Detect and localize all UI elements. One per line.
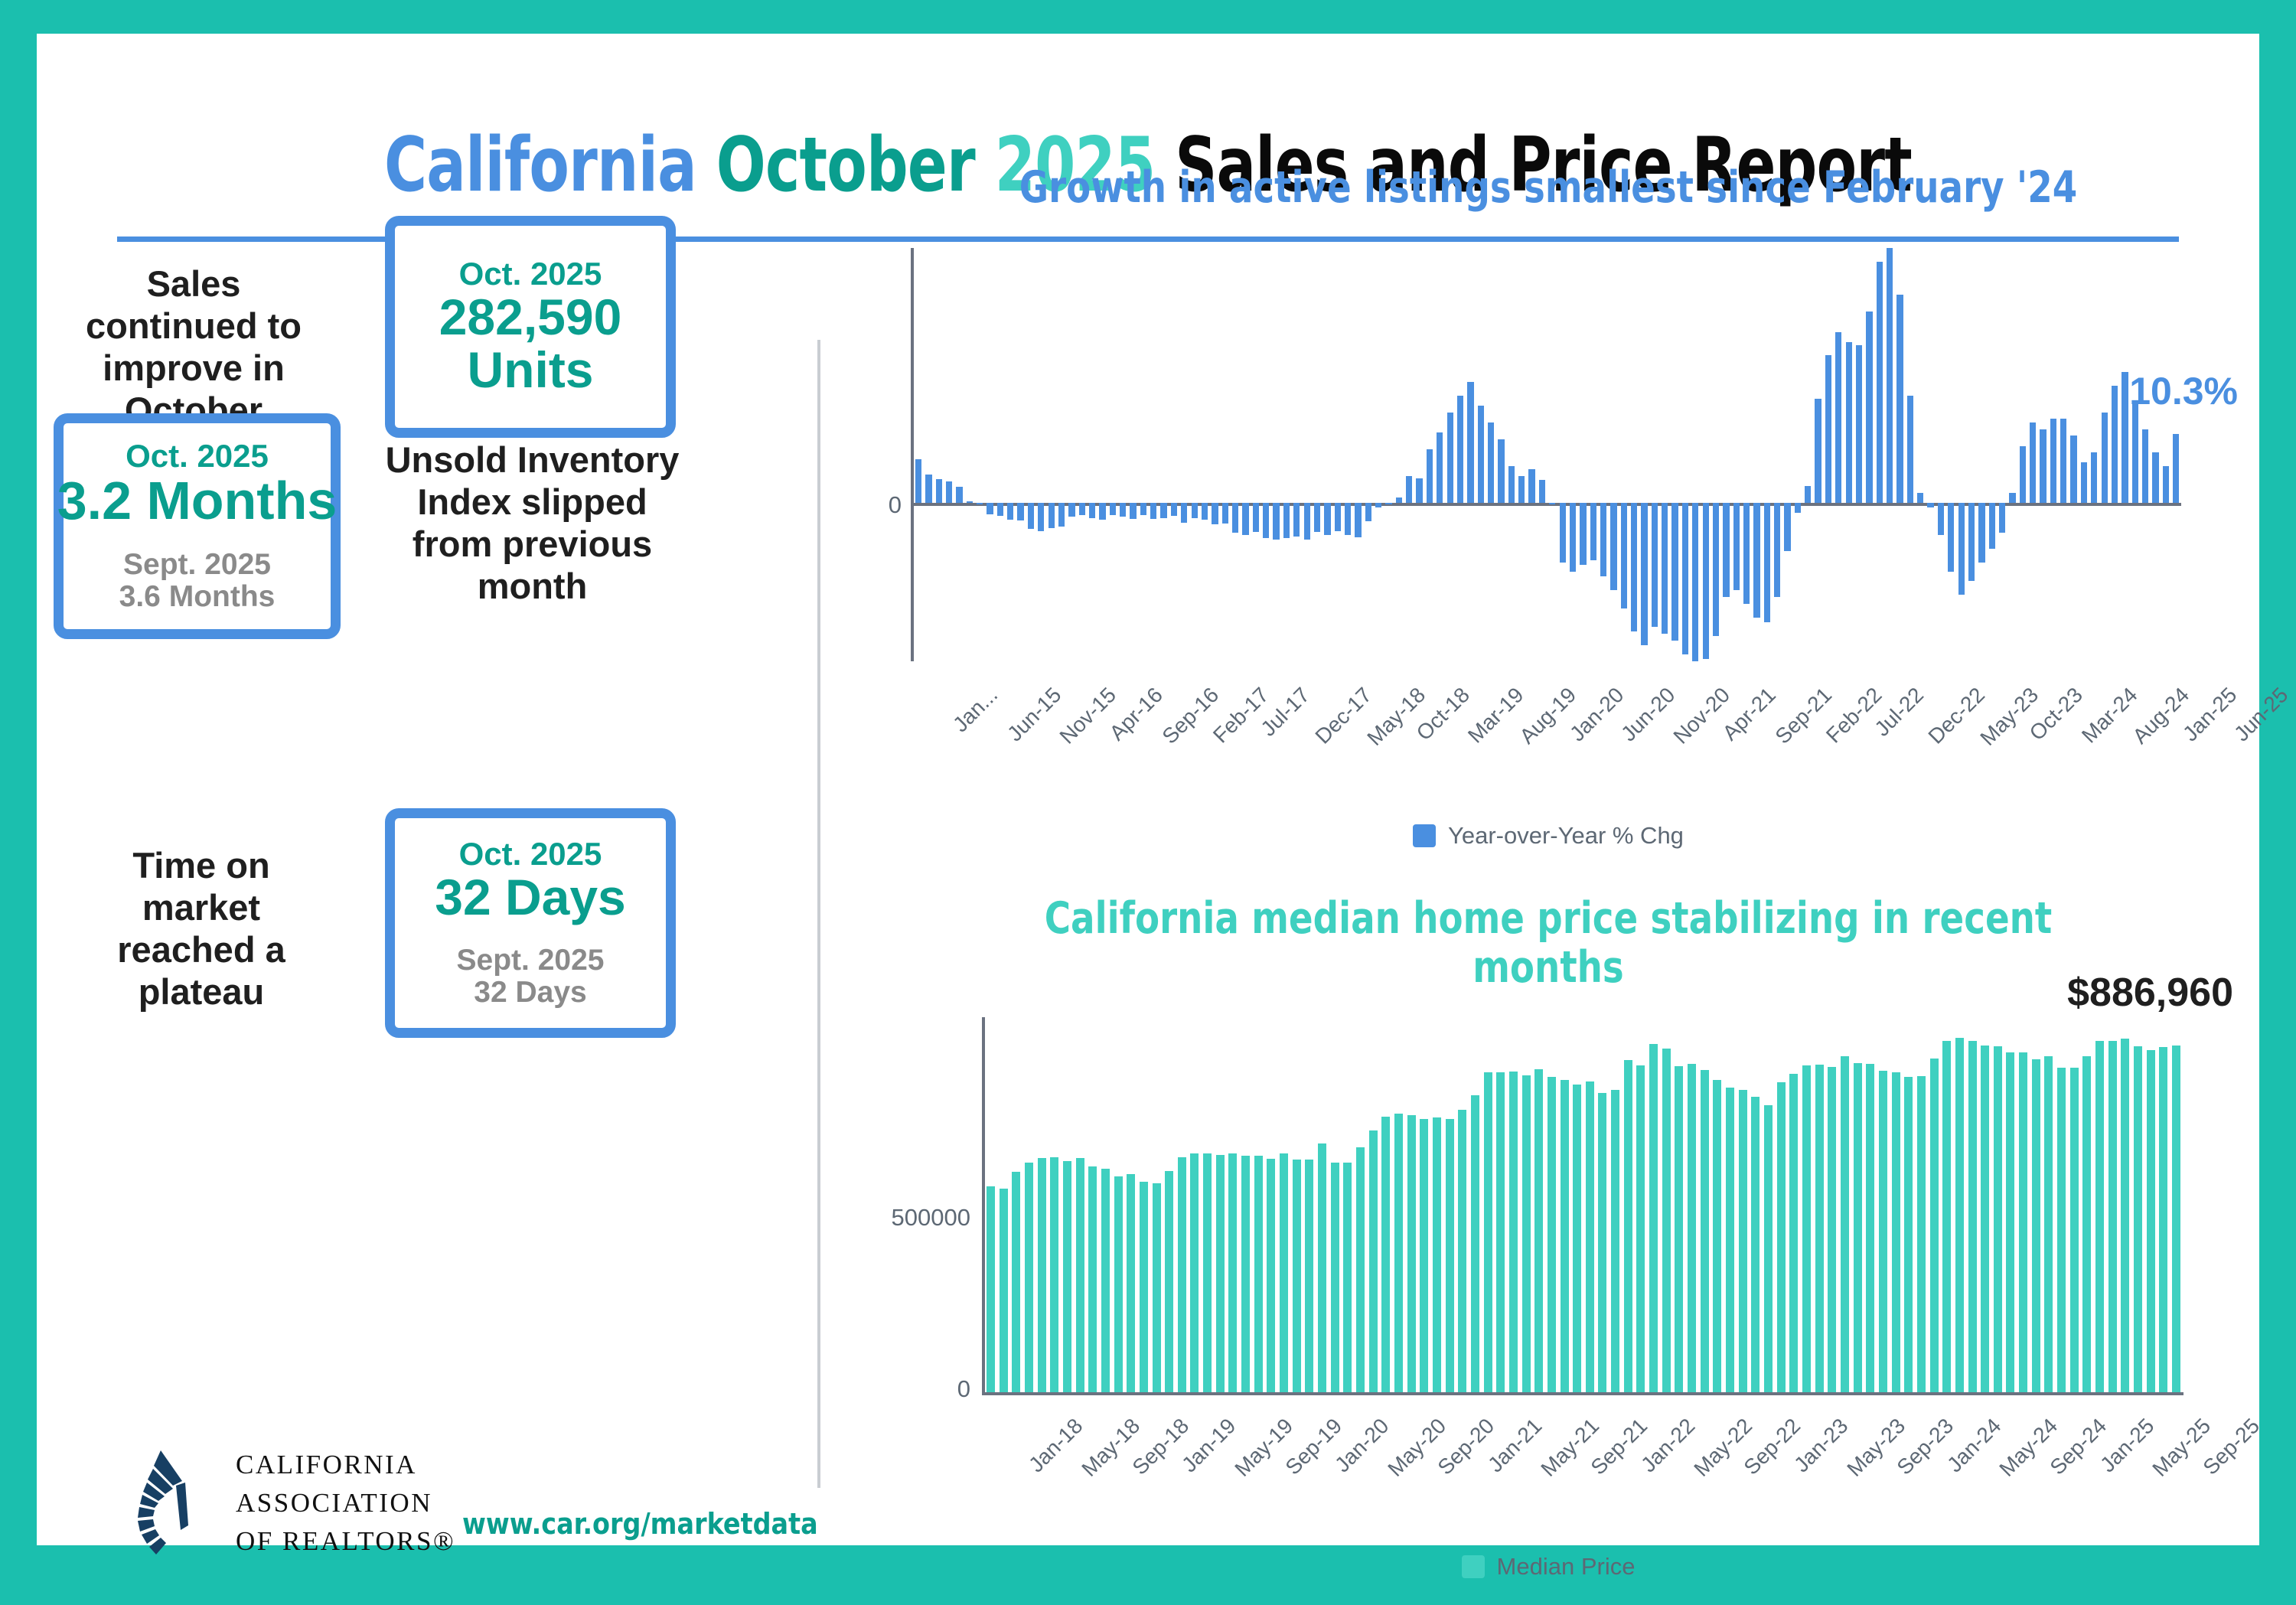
chart1-bar (1456, 240, 1466, 669)
chart1-bar (1517, 240, 1527, 669)
chart1-bar (1507, 240, 1517, 669)
marketdata-url[interactable]: www.car.org/marketdata (462, 1507, 818, 1541)
chart1-bar-fill (1049, 503, 1055, 528)
stat-box-time-on-market[interactable]: Oct. 2025 32 Days Sept. 2025 32 Days (385, 808, 676, 1038)
chart1-bar-fill (2102, 413, 2108, 503)
chart1-bar-fill (1427, 449, 1433, 503)
chart1-bar-fill (1528, 469, 1534, 503)
chart1-bar (1752, 240, 1762, 669)
chart1-bar (1640, 240, 1650, 669)
chart2-bar (1890, 1017, 1903, 1392)
chart1-bar-fill (2173, 434, 2179, 503)
chart2-bar-fill (1178, 1157, 1186, 1392)
chart2-bar-fill (1025, 1163, 1033, 1392)
chart1-x-tick: Jun-20 (1616, 683, 1680, 746)
chart1-bar (1169, 240, 1179, 669)
chart2-bar-fill (1280, 1153, 1288, 1392)
chart2-bar-fill (1561, 1080, 1569, 1392)
chart2-bar (1635, 1017, 1648, 1392)
chart2-x-tick: Jan-24 (1942, 1414, 2006, 1477)
chart2-bar-fill (1420, 1119, 1428, 1392)
chart2-ytick-500000: 500000 (817, 1204, 970, 1231)
chart1-bar (944, 240, 954, 669)
chart2-legend: Median Price (863, 1553, 2233, 1581)
chart1-bar-fill (2132, 403, 2138, 503)
chart-median-price: California median home price stabilizing… (863, 895, 2233, 1584)
chart2-bar (2030, 1017, 2043, 1392)
chart1-bar (1875, 240, 1885, 669)
chart2-annotation-latest: $886,960 (2067, 970, 2233, 1016)
chart1-bar (1558, 240, 1568, 669)
chart1-bar-fill (915, 459, 921, 503)
chart2-x-tick-labels: Jan-18May-18Sep-18Jan-19May-19Sep-19Jan-… (985, 1409, 2183, 1539)
chart1-bar-fill (1662, 503, 1668, 634)
chart1-bar-fill (1406, 476, 1412, 503)
chart1-bar (1006, 240, 1016, 669)
chart1-bar-fill (1508, 466, 1515, 503)
stat-prev-label: Sept. 2025 (123, 549, 271, 581)
chart-title-active-listings: Growth in active listings smallest since… (987, 164, 2110, 213)
chart2-bar (1456, 1017, 1469, 1392)
chart1-bar (1047, 240, 1057, 669)
chart2-bar-fill (2032, 1059, 2040, 1392)
chart2-bar-fill (1063, 1161, 1071, 1392)
chart2-bar (1482, 1017, 1495, 1392)
chart2-bar (1240, 1017, 1253, 1392)
chart2-bar (1763, 1017, 1776, 1392)
chart2-bar (1711, 1017, 1724, 1392)
chart1-bar-fill (1130, 503, 1136, 519)
chart2-bar-fill (1267, 1159, 1275, 1392)
chart1-bar-fill (1539, 480, 1545, 503)
chart2-bar-fill (1343, 1163, 1352, 1392)
logo-line-1: CALIFORNIA (236, 1446, 455, 1484)
chart1-bar-fill (1150, 503, 1156, 519)
chart1-bar-fill (956, 487, 962, 503)
chart2-bar-fill (1789, 1074, 1798, 1393)
chart1-bar (1814, 240, 1824, 669)
chart1-bar-fill (1907, 396, 1913, 503)
chart1-bar-fill (1774, 503, 1780, 597)
chart1-bar-fill (1958, 503, 1965, 595)
chart2-bar (2017, 1017, 2030, 1392)
chart2-bar-fill (1879, 1071, 1887, 1392)
chart2-bar-fill (1101, 1169, 1110, 1392)
chart1-bar-fill (1682, 503, 1688, 654)
chart2-bar (1699, 1017, 1712, 1392)
chart1-bar (1926, 240, 1936, 669)
chart1-bar (1538, 240, 1548, 669)
chart2-bar (1075, 1017, 1088, 1392)
chart1-bar (1210, 240, 1220, 669)
chart1-bar (2007, 240, 2017, 669)
chart1-bar-fill (2112, 386, 2118, 503)
chart2-bar (1368, 1017, 1381, 1392)
chart1-bar-fill (1743, 503, 1750, 604)
chart1-bar-fill (1795, 503, 1801, 513)
chart2-bar-fill (1407, 1115, 1416, 1392)
chart2-bar-fill (1216, 1155, 1225, 1392)
chart2-bar (1724, 1017, 1737, 1392)
stat-prev-value: 3.6 Months (119, 581, 276, 613)
chart1-bar (1303, 240, 1313, 669)
chart1-bar (1742, 240, 1752, 669)
chart1-bar-fill (1488, 422, 1494, 503)
chart1-bar (1936, 240, 1946, 669)
chart2-bar-fill (2095, 1041, 2104, 1392)
chart1-bar (1097, 240, 1107, 669)
chart1-bar-fill (1314, 503, 1320, 532)
chart1-bar-fill (1560, 503, 1566, 563)
chart1-bar (1313, 240, 1322, 669)
chart2-bar (1023, 1017, 1036, 1392)
chart1-x-tick: May-18 (1362, 683, 1430, 751)
chart2-bar-fill (1000, 1189, 1008, 1392)
chart2-bar-fill (1293, 1160, 1301, 1392)
chart2-bar-fill (1713, 1080, 1721, 1392)
chart2-bar-fill (1611, 1090, 1619, 1392)
chart1-bar-fill (1017, 503, 1023, 520)
chart2-bar-fill (1802, 1065, 1811, 1392)
chart1-bar-fill (2050, 419, 2056, 503)
chart1-bar-fill (2122, 372, 2128, 503)
chart2-bar-fill (1228, 1153, 1237, 1392)
chart1-bar (2028, 240, 2038, 669)
stat-box-unsold-inventory[interactable]: Oct. 2025 3.2 Months Sept. 2025 3.6 Mont… (54, 413, 341, 639)
chart2-bar (1100, 1017, 1113, 1392)
chart1-bar-fill (1068, 503, 1075, 517)
chart1-bar-fill (1007, 503, 1013, 520)
chart1-bar-fill (1160, 503, 1166, 518)
chart2-bar-fill (1662, 1049, 1671, 1392)
chart2-bar (1151, 1017, 1164, 1392)
chart2-x-tick: May-22 (1689, 1414, 1757, 1482)
chart1-bar-fill (1365, 503, 1371, 521)
chart1-bar-fill (1703, 503, 1709, 659)
chart1-bar-fill (1181, 503, 1187, 523)
chart2-bar-fill (1688, 1064, 1696, 1392)
chart1-bar-fill (1089, 503, 1095, 518)
chart1-bar-fill (1938, 503, 1944, 535)
chart1-bar-fill (1815, 399, 1821, 503)
chart1-bar-fill (1631, 503, 1637, 631)
chart1-bar-fill (1692, 503, 1698, 661)
chart2-bar (1265, 1017, 1278, 1392)
chart1-bar (1619, 240, 1629, 669)
chart2-bar (1609, 1017, 1623, 1392)
chart1-bar (2131, 240, 2141, 669)
car-logo-mark (127, 1446, 219, 1561)
chart1-bar (1578, 240, 1588, 669)
stat-value: 282,590 (439, 291, 622, 344)
chart1-bar-fill (1570, 503, 1576, 572)
stat-prev-label: Sept. 2025 (457, 944, 605, 977)
chart2-bar (1559, 1017, 1572, 1392)
chart2-bar (1406, 1017, 1419, 1392)
chart2-bar-fill (1930, 1059, 1939, 1392)
chart1-bar-fill (1846, 342, 1852, 503)
chart2-bar (1521, 1017, 1534, 1392)
chart2-bar (1253, 1017, 1266, 1392)
chart1-bar (1026, 240, 1036, 669)
chart2-bar (998, 1017, 1011, 1392)
chart1-bar (1599, 240, 1609, 669)
car-logo: CALIFORNIA ASSOCIATION OF REALTORS® (127, 1446, 455, 1561)
chart2-bar-fill (1038, 1158, 1046, 1392)
chart1-bar (1988, 240, 1998, 669)
chart1-bar-fill (1978, 503, 1985, 563)
chart1-x-tick: Sep-16 (1157, 683, 1223, 749)
chart2-bar (1801, 1017, 1814, 1392)
chart2-bar-fill (1854, 1063, 1862, 1392)
chart2-bar-fill (1381, 1117, 1390, 1392)
chart1-bar (1415, 240, 1425, 669)
chart1-x-tick: Mar-24 (2077, 683, 2142, 748)
chart1-bar-fill (1192, 503, 1198, 518)
chart1-bar (2120, 240, 2130, 669)
stat-month-label: Oct. 2025 (459, 837, 602, 871)
chart2-bar-fill (1624, 1060, 1632, 1392)
chart1-bar (1885, 240, 1895, 669)
chart1-bar (1446, 240, 1456, 669)
chart2-bar (2043, 1017, 2056, 1392)
chart1-bar-fill (1610, 503, 1616, 590)
stats-column: Sales continued to improve in October Oc… (37, 263, 771, 1457)
chart2-bar (1138, 1017, 1151, 1392)
chart2-bar (1673, 1017, 1686, 1392)
chart2-bar (1992, 1017, 2005, 1392)
chart1-bar (1854, 240, 1864, 669)
chart1-bar-fill (1887, 248, 1893, 503)
chart2-bar-fill (1828, 1067, 1836, 1392)
chart1-bar (1343, 240, 1353, 669)
chart2-bar (1864, 1017, 1877, 1392)
chart1-bar (2018, 240, 2028, 669)
chart1-bar-fill (2040, 429, 2046, 503)
chart2-bar (2056, 1017, 2069, 1392)
chart1-bar (1251, 240, 1261, 669)
chart2-bar-fill (1573, 1085, 1581, 1392)
chart1-bar (1466, 240, 1476, 669)
car-logo-text: CALIFORNIA ASSOCIATION OF REALTORS® (236, 1446, 455, 1560)
chart1-bar-fill (1518, 476, 1525, 503)
chart1-bar (1394, 240, 1404, 669)
chart2-bar (1303, 1017, 1316, 1392)
chart1-bar-fill (1498, 439, 1504, 503)
chart1-bar (1609, 240, 1619, 669)
chart2-bar (1839, 1017, 1852, 1392)
chart1-x-tick: Nov-15 (1055, 683, 1121, 749)
chart1-bar-fill (1202, 503, 1208, 520)
chart2-x-tick: Jan-23 (1789, 1414, 1853, 1477)
chart1-bar (1149, 240, 1159, 669)
chart2-bar (1087, 1017, 1100, 1392)
chart1-bar (1701, 240, 1711, 669)
chart1-bar (1292, 240, 1302, 669)
chart1-x-tick: May-23 (1976, 683, 2044, 751)
chart-title-median-price: California median home price stabilizing… (987, 895, 2110, 993)
chart2-bar (1852, 1017, 1865, 1392)
chart1-bar-fill (1478, 406, 1484, 503)
chart2-bar (1979, 1017, 1992, 1392)
chart1-ytick-zero: 0 (856, 491, 902, 519)
chart1-bar-fill (1457, 396, 1463, 503)
chart1-bar (1088, 240, 1097, 669)
chart1-bar-fill (2091, 452, 2097, 503)
chart1-bar (1844, 240, 1854, 669)
chart2-legend-swatch (1462, 1555, 1485, 1578)
chart1-bar-fill (1345, 503, 1351, 535)
chart2-bar-fill (1305, 1160, 1313, 1392)
chart1-x-tick: Aug-19 (1515, 683, 1581, 749)
chart1-annotation-latest: 10.3% (2129, 369, 2238, 413)
chart2-bar-fill (2134, 1046, 2142, 1392)
chart1-bar (996, 240, 1006, 669)
chart2-bar (1623, 1017, 1636, 1392)
chart2-bar (1916, 1017, 1929, 1392)
chart2-x-tick: Jan-22 (1636, 1414, 1700, 1477)
chart1-bar (1159, 240, 1169, 669)
chart2-bar-fill (2057, 1068, 2066, 1392)
chart1-bar-fill (987, 503, 993, 514)
chart1-bar (1906, 240, 1916, 669)
chart1-x-tick: Jan... (948, 683, 1003, 737)
chart1-bar (1783, 240, 1793, 669)
chart2-bar-fill (2006, 1052, 2014, 1392)
chart1-bar (1916, 240, 1926, 669)
chart1-bar-fill (1437, 432, 1443, 503)
chart2-bar (1954, 1017, 1967, 1392)
chart1-bar-fill (925, 475, 931, 503)
chart2-bar-fill (1942, 1041, 1951, 1392)
chart2-bar (1686, 1017, 1699, 1392)
chart2-bar-fill (1076, 1158, 1084, 1392)
chart2-bar-fill (1509, 1072, 1518, 1392)
chart1-bar (1773, 240, 1782, 669)
chart1-bar-fill (1171, 503, 1177, 516)
chart2-bar (1227, 1017, 1240, 1392)
chart1-bar (1476, 240, 1486, 669)
chart2-bar-fill (1254, 1156, 1263, 1392)
chart1-bar (2151, 240, 2161, 669)
chart2-bar-fill (1114, 1176, 1123, 1392)
chart2-bar (1418, 1017, 1431, 1392)
chart1-legend-label: Year-over-Year % Chg (1448, 822, 1684, 850)
chart2-bar-fill (1701, 1070, 1709, 1392)
chart2-bar (1967, 1017, 1980, 1392)
chart2-bar-fill (1726, 1088, 1734, 1392)
chart1-bar-fill (1273, 503, 1279, 540)
chart1-bar-fill (2060, 419, 2066, 503)
chart2-bar-fill (1165, 1171, 1173, 1392)
chart2-bar (1737, 1017, 1750, 1392)
chart1-bar (1231, 240, 1241, 669)
chart2-legend-label: Median Price (1497, 1553, 1636, 1581)
chart1-bar-fill (1835, 332, 1841, 503)
stat-value: 32 Days (435, 871, 626, 924)
chart1-bar (1671, 240, 1681, 669)
chart1-bar (1721, 240, 1731, 669)
chart1-bar-fill (1293, 503, 1300, 537)
chart1-bar-fill (1753, 503, 1760, 618)
chart1-bar (1568, 240, 1578, 669)
chart2-bar-fill (2121, 1039, 2129, 1392)
chart2-bar (2005, 1017, 2018, 1392)
chart1-bar-fill (997, 503, 1003, 516)
chart1-bar-fill (1232, 503, 1238, 533)
chart1-bar-fill (1242, 503, 1248, 535)
chart2-bar (1877, 1017, 1890, 1392)
chart1-bar-fill (1549, 503, 1555, 504)
chart2-bar (1903, 1017, 1916, 1392)
chart2-bar-fill (1904, 1077, 1913, 1392)
chart-active-listings: Growth in active listings smallest since… (863, 164, 2233, 891)
chart1-bar-fill (1355, 503, 1361, 537)
chart1-bar-fill (1110, 503, 1116, 515)
stat-box-sales[interactable]: Oct. 2025 282,590 Units (385, 216, 676, 438)
chart2-x-tick: May-25 (2148, 1414, 2216, 1482)
chart2-bar (1495, 1017, 1508, 1392)
chart1-bar (1404, 240, 1414, 669)
chart1-bar (1374, 240, 1384, 669)
chart1-legend: Year-over-Year % Chg (863, 822, 2233, 850)
chart1-bar-fill (2030, 422, 2036, 503)
chart1-bar-fill (1989, 503, 1995, 549)
chart1-bar-fill (2009, 493, 2015, 503)
chart1-bar-fill (2070, 436, 2076, 503)
chart2-bar-fill (1394, 1114, 1403, 1392)
chart2-bar-fill (1815, 1065, 1824, 1392)
chart2-bar-fill (1649, 1044, 1658, 1392)
chart2-bar-fill (1522, 1075, 1531, 1392)
stat-unit: Units (468, 344, 594, 396)
chart2-bar (1508, 1017, 1521, 1392)
chart1-bar (2110, 240, 2120, 669)
logo-line-3: OF REALTORS® (236, 1522, 455, 1561)
chart2-bar-fill (1675, 1066, 1683, 1392)
chart2-bar (1597, 1017, 1610, 1392)
chart2-bar (1189, 1017, 1202, 1392)
stat-blurb-time-on-market: Time on market reached a plateau (79, 845, 324, 1013)
chart2-bar (1826, 1017, 1839, 1392)
chart2-x-tick: Jan-19 (1177, 1414, 1241, 1477)
chart2-bar (2069, 1017, 2082, 1392)
chart2-bar-fill (1203, 1153, 1212, 1392)
stat-blurb-sales: Sales continued to improve in October (67, 263, 320, 432)
chart1-bar (965, 240, 975, 669)
chart2-bar (1329, 1017, 1342, 1392)
chart1-bar-fill (1652, 503, 1658, 627)
chart1-bar-fill (967, 501, 973, 503)
chart1-bar (1364, 240, 1374, 669)
chart2-bar-fill (1598, 1093, 1606, 1392)
chart1-bar (1425, 240, 1435, 669)
chart1-bar-fill (1805, 486, 1811, 503)
chart2-bar (2132, 1017, 2145, 1392)
chart1-x-tick: Jan-25 (2178, 683, 2242, 746)
chart1-bar-fill (1335, 503, 1341, 531)
chart1-bar-fill (1948, 503, 1954, 572)
chart1-bar (1078, 240, 1088, 669)
chart1-bar-fill (1253, 503, 1259, 532)
chart1-bar (1067, 240, 1077, 669)
chart1-x-tick: Apr-16 (1105, 683, 1168, 745)
stat-value: 3.2 Months (57, 473, 338, 530)
chart2-bar (2107, 1017, 2120, 1392)
chart1-bar (1803, 240, 1813, 669)
chart2-bar-fill (1777, 1082, 1786, 1392)
chart2-bar (1202, 1017, 1215, 1392)
